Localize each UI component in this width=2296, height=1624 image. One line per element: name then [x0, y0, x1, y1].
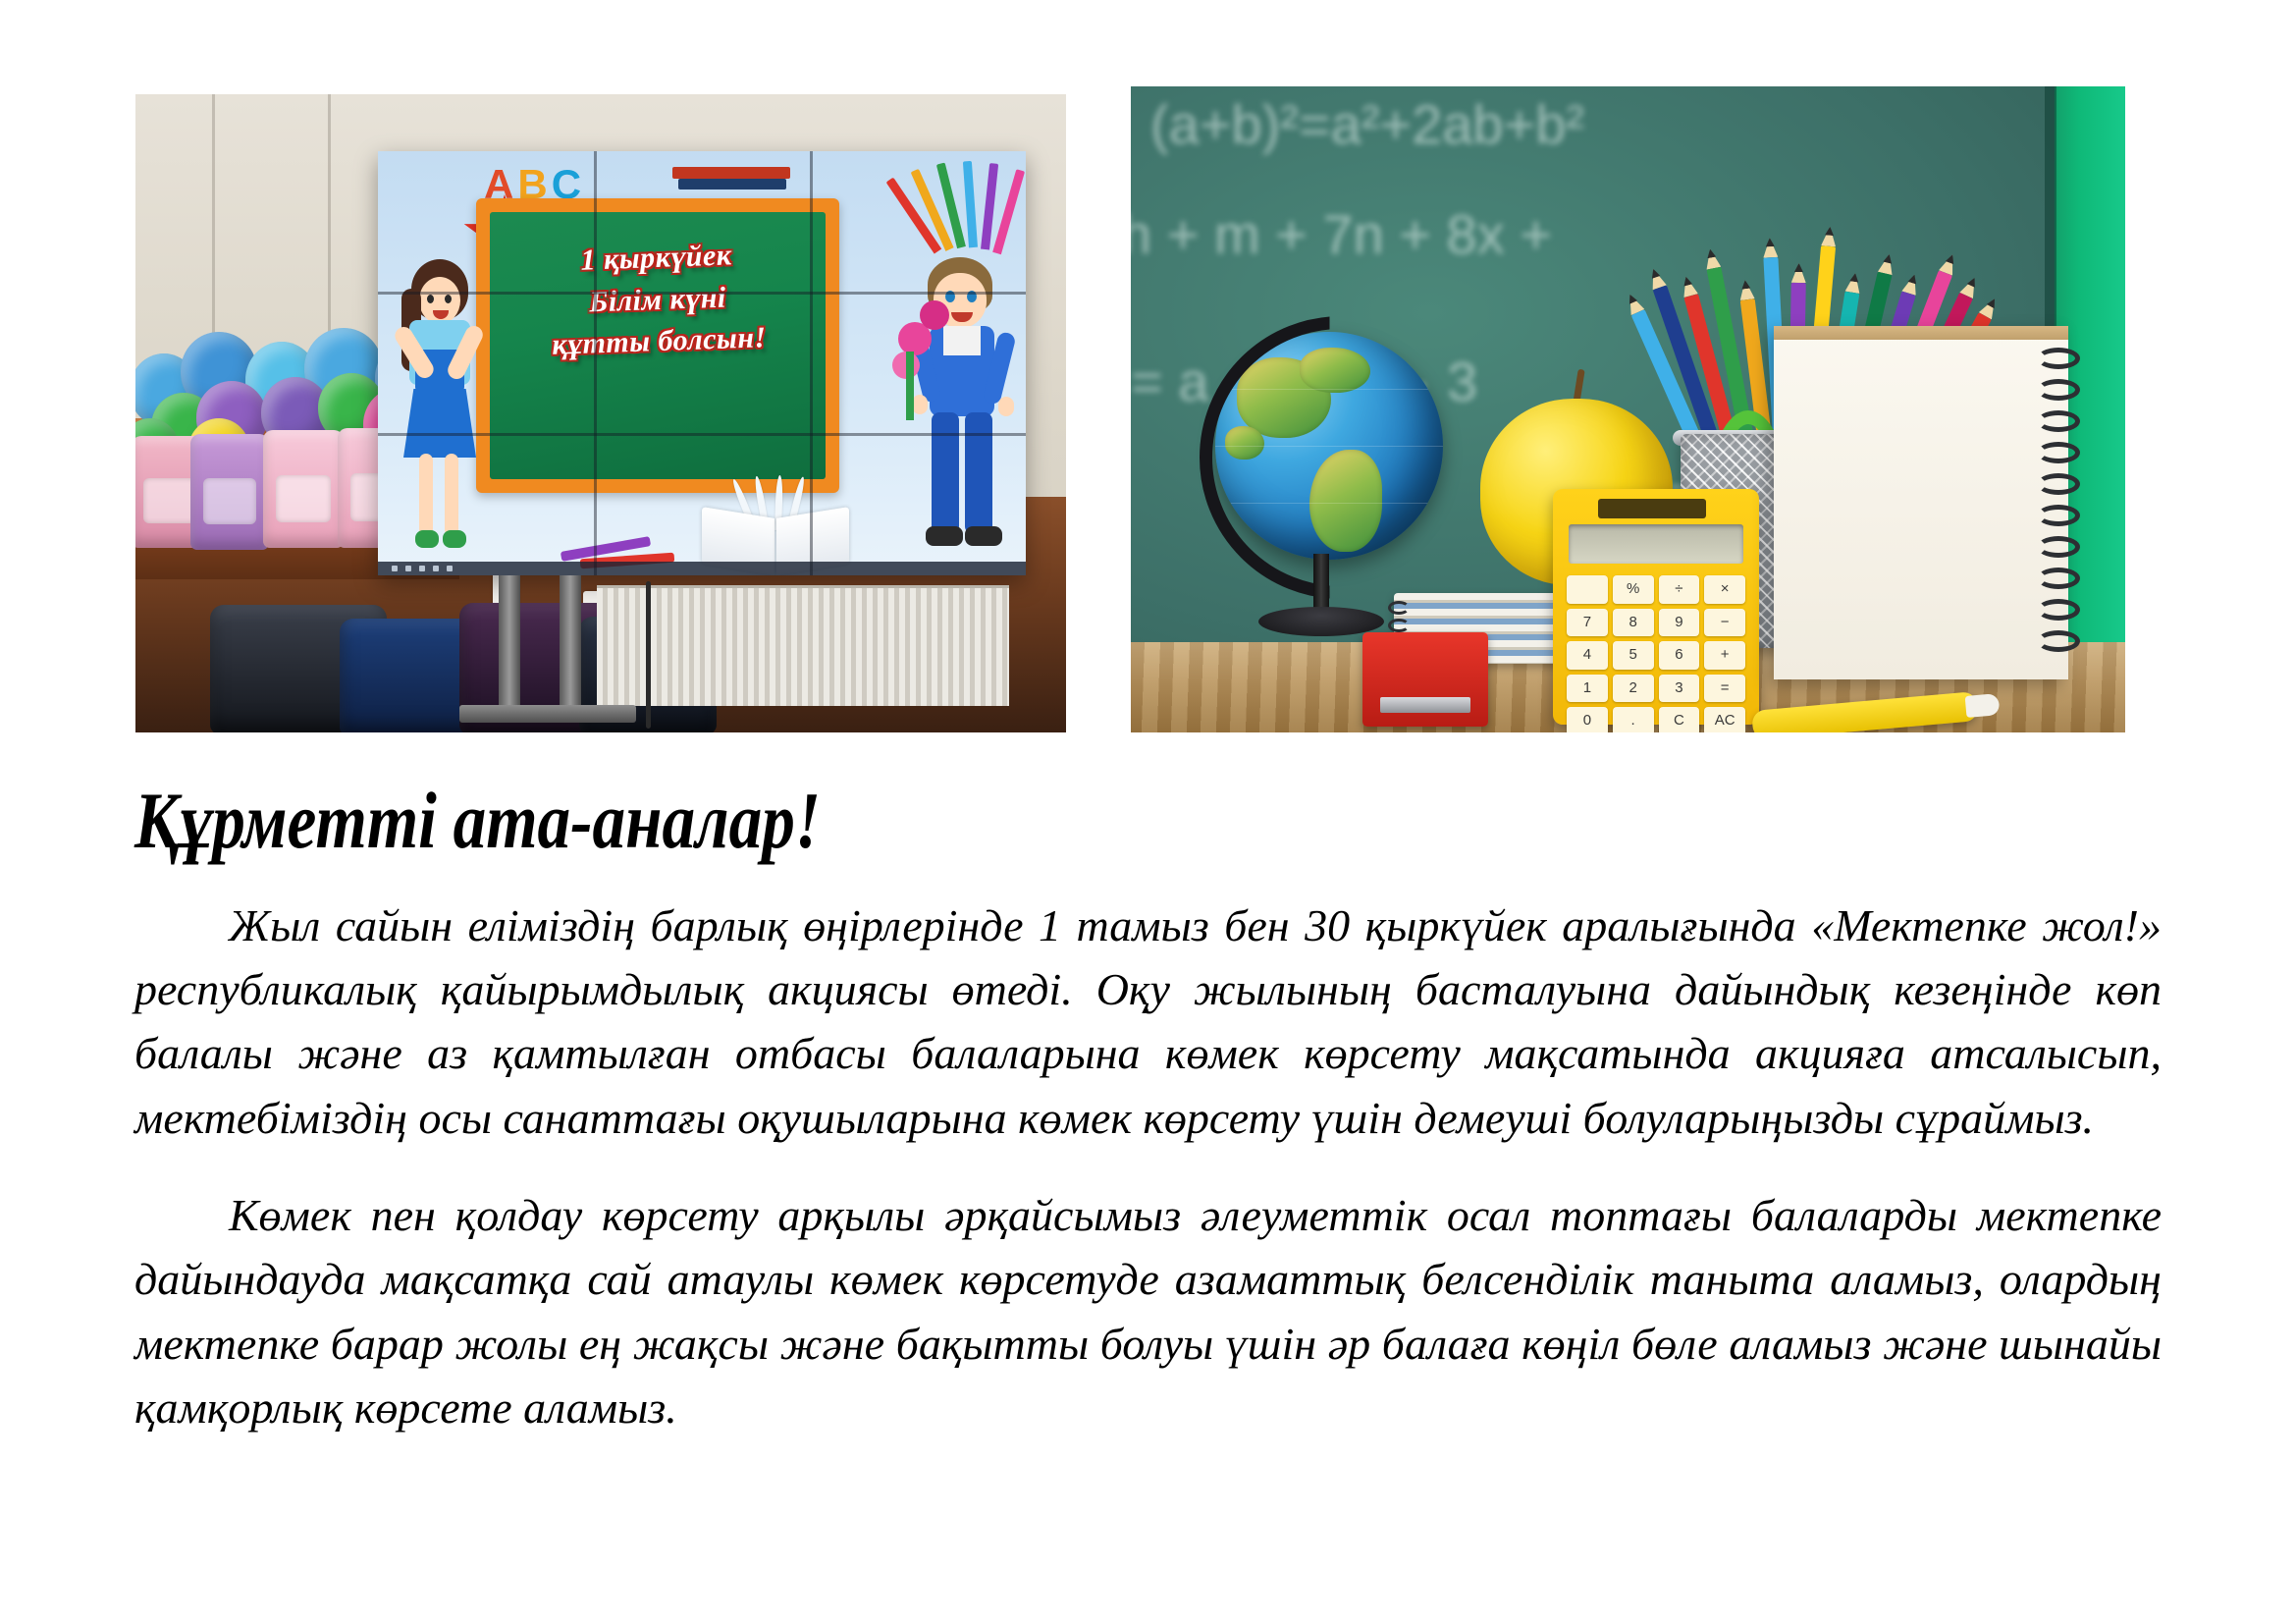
cartoon-girl	[386, 259, 492, 554]
calc-key: .	[1613, 707, 1654, 732]
calc-key: 6	[1659, 641, 1700, 670]
book-stack	[672, 167, 790, 179]
calc-key: 8	[1613, 609, 1654, 637]
calc-key: 0	[1567, 707, 1608, 732]
calc-key: 9	[1659, 609, 1700, 637]
power-cable	[646, 581, 651, 729]
cartoon-boy	[904, 257, 1022, 569]
led-video-wall: ABC 1 қыркүйек Білім күні құтты болсын!	[378, 151, 1026, 575]
photo-row: ABC 1 қыркүйек Білім күні құтты болсын!	[0, 0, 2296, 776]
calc-key: ×	[1704, 575, 1745, 604]
paragraph-1: Жыл сайын еліміздің барлық өңірлерінде 1…	[134, 893, 2162, 1150]
led-panel-seam	[378, 292, 1026, 295]
backpack	[263, 430, 344, 548]
led-panel-seam	[810, 151, 813, 575]
document-page: ABC 1 қыркүйек Білім күні құтты болсын!	[0, 0, 2296, 1624]
radiator	[597, 585, 1009, 706]
calc-key: −	[1704, 609, 1745, 637]
tv-stand-column	[499, 575, 520, 723]
calculator: % ÷ × 7 8 9 − 4 5 6 + 1 2 3 = 0 .	[1553, 489, 1759, 725]
calc-key: ÷	[1659, 575, 1700, 604]
calculator-keypad: % ÷ × 7 8 9 − 4 5 6 + 1 2 3 = 0 .	[1567, 575, 1745, 713]
calc-key: +	[1704, 641, 1745, 670]
led-panel-seam	[594, 151, 597, 575]
pencil-sharpener	[1362, 632, 1488, 727]
calculator-display	[1569, 524, 1743, 564]
cartoon-chalkboard: 1 қыркүйек Білім күні құтты болсын!	[490, 212, 826, 479]
calc-key: 3	[1659, 675, 1700, 703]
globe-stem	[1313, 554, 1329, 615]
calc-key: C	[1659, 707, 1700, 732]
calc-key: AC	[1704, 707, 1745, 732]
calc-key: =	[1704, 675, 1745, 703]
page-title: Құрметті ата-аналар!	[134, 776, 1796, 866]
led-panel-seam	[378, 433, 1026, 436]
calc-key: 2	[1613, 675, 1654, 703]
chalk-formula: h + m + 7n + 8x +	[1131, 202, 1552, 266]
calc-key	[1567, 575, 1608, 604]
tv-stand-base	[459, 705, 636, 723]
tv-stand-column	[560, 575, 581, 723]
paragraph-2: Көмек пен қолдау көрсету арқылы әрқайсым…	[134, 1183, 2162, 1439]
calc-key: 4	[1567, 641, 1608, 670]
open-book	[702, 505, 849, 569]
book-stack	[678, 179, 786, 189]
calc-key: 1	[1567, 675, 1608, 703]
backpack	[190, 434, 269, 550]
screen-taskbar	[378, 562, 1026, 575]
letter-body: Құрметті ата-аналар! Жыл сайын еліміздің…	[134, 776, 2162, 1439]
photo-assembly-hall-videowall: ABC 1 қыркүйек Білім күні құтты болсын!	[135, 94, 1066, 732]
chalk-formula: (a+b)²=a²+2ab+b²	[1150, 92, 1584, 156]
calculator-solar-panel	[1598, 499, 1706, 518]
calc-key: %	[1613, 575, 1654, 604]
cartoon-chalkboard-frame: 1 қыркүйек Білім күні құтты болсын!	[476, 198, 839, 493]
calc-key: 7	[1567, 609, 1608, 637]
calc-key: 5	[1613, 641, 1654, 670]
photo-school-supplies: (a+b)²=a²+2ab+b² h + m + 7n + 8x + = a ·…	[1131, 86, 2125, 732]
spiral-notebook	[1774, 326, 2068, 679]
greeting-text: 1 қыркүйек Білім күні құтты болсын!	[488, 232, 828, 369]
